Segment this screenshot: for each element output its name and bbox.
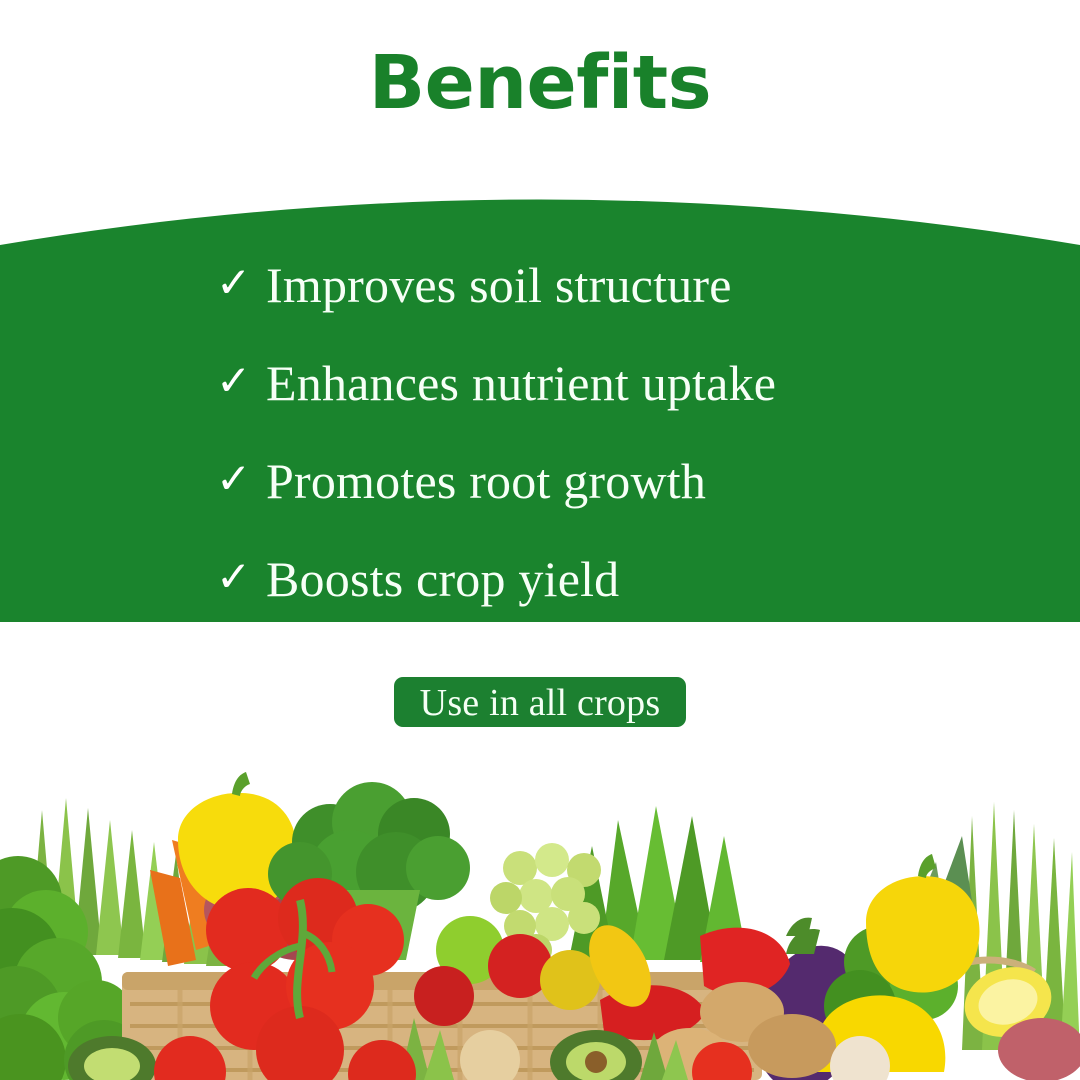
page-title: Benefits — [369, 46, 711, 120]
cta-area: Use in all crops — [0, 677, 1080, 727]
benefits-list: ✓ Improves soil structure ✓ Enhances nut… — [0, 236, 1080, 628]
benefit-item-2: ✓ Enhances nutrient uptake — [0, 334, 1080, 432]
benefit-item-1: ✓ Improves soil structure — [0, 236, 1080, 334]
benefits-poster: Benefits ✓ Improves soil structure ✓ Enh… — [0, 0, 1080, 1080]
benefit-label: Promotes root growth — [266, 455, 706, 508]
check-icon: ✓ — [216, 556, 262, 598]
benefit-item-3: ✓ Promotes root growth — [0, 432, 1080, 530]
check-icon: ✓ — [216, 262, 262, 304]
benefit-item-4: ✓ Boosts crop yield — [0, 530, 1080, 628]
benefit-label: Improves soil structure — [266, 259, 732, 312]
page-title-area: Benefits — [0, 46, 1080, 120]
use-in-all-crops-button[interactable]: Use in all crops — [394, 677, 687, 727]
check-icon: ✓ — [216, 458, 262, 500]
benefit-label: Boosts crop yield — [266, 553, 619, 606]
produce-photo — [0, 750, 1080, 1080]
benefit-label: Enhances nutrient uptake — [266, 357, 776, 410]
check-icon: ✓ — [216, 360, 262, 402]
